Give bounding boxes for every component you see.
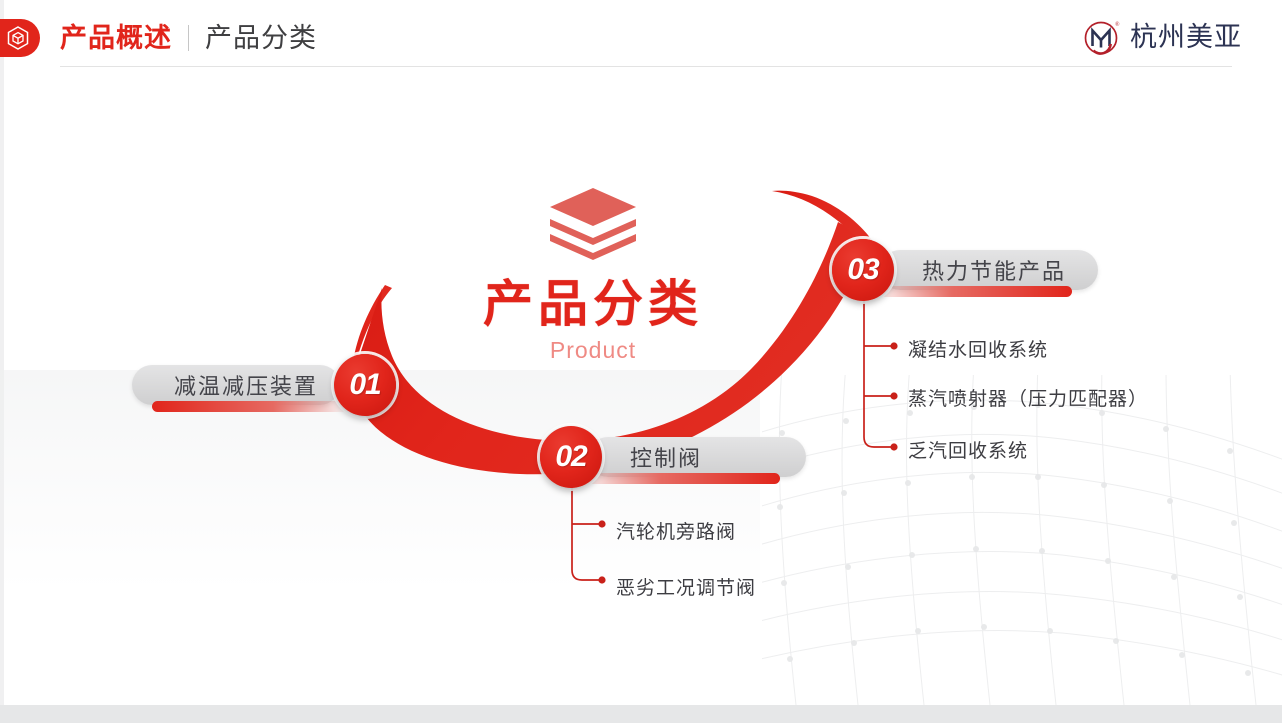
bottom-band [0, 705, 1282, 723]
node-02-pill[interactable]: 控制阀 [588, 437, 806, 477]
left-edge-strip [0, 0, 4, 723]
svg-text:®: ® [1115, 21, 1120, 28]
breadcrumb-separator [188, 25, 189, 51]
cube-hexagon-icon [0, 19, 40, 57]
node-01-pill[interactable]: 减温减压装置 [132, 365, 340, 405]
node-02-number-badge[interactable]: 02 [540, 426, 602, 488]
center-title-en: Product [418, 337, 768, 364]
node-01-number: 01 [349, 370, 380, 400]
page-title-sub[interactable]: 产品分类 [205, 25, 317, 52]
brand-name: 杭州美亚 [1130, 24, 1242, 51]
page-title-main[interactable]: 产品概述 [60, 25, 172, 52]
node-02-subitem-2[interactable]: 恶劣工况调节阀 [616, 573, 756, 600]
node-03-subitem-3[interactable]: 乏汽回收系统 [908, 436, 1028, 463]
slide-canvas: 产品概述 产品分类 ® 杭州美亚 [0, 0, 1282, 723]
node-03-number: 03 [847, 255, 878, 285]
breadcrumb: 产品概述 产品分类 [60, 18, 317, 58]
node-02-subitem-1[interactable]: 汽轮机旁路阀 [616, 517, 736, 544]
brand-logo: ® 杭州美亚 [1080, 15, 1242, 59]
header-bar: 产品概述 产品分类 ® 杭州美亚 [0, 0, 1282, 72]
layers-stack-icon [546, 186, 640, 264]
node-03-subitem-2[interactable]: 蒸汽喷射器（压力匹配器） [908, 384, 1148, 411]
node-01-label: 减温减压装置 [174, 369, 318, 401]
node-01-accent-bar [152, 401, 348, 412]
node-01-number-badge[interactable]: 01 [334, 354, 396, 416]
node-03-accent-bar [872, 286, 1072, 297]
node-03-label: 热力节能产品 [922, 254, 1066, 286]
node-02-number: 02 [555, 442, 586, 472]
node-02-label: 控制阀 [630, 441, 702, 473]
node-03-subitem-1[interactable]: 凝结水回收系统 [908, 335, 1048, 362]
center-title-cn: 产品分类 [418, 278, 768, 331]
meiya-m-monogram-icon: ® [1080, 14, 1126, 60]
node-03-number-badge[interactable]: 03 [832, 239, 894, 301]
node-03-pill[interactable]: 热力节能产品 [880, 250, 1098, 290]
background-mesh-pattern [762, 375, 1282, 705]
node-02-accent-bar [580, 473, 780, 484]
center-title-block: 产品分类 Product [418, 186, 768, 364]
header-divider [60, 66, 1232, 67]
